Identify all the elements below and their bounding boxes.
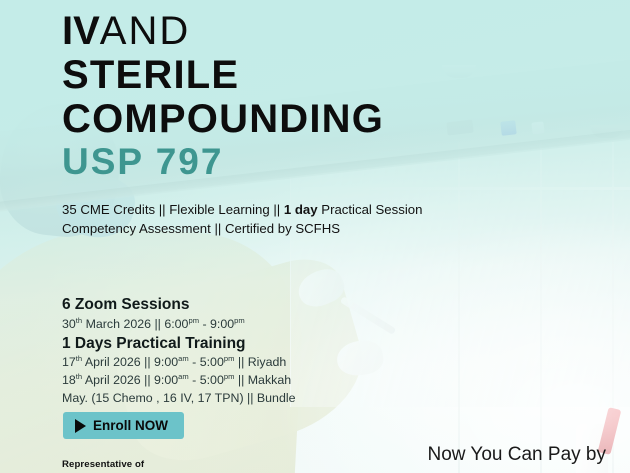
row2-start-meridiem: am [178, 372, 189, 381]
headline-iv: IV [62, 9, 100, 53]
row1-end-meridiem: pm [224, 354, 235, 363]
headline-line-3: COMPOUNDING [62, 99, 384, 139]
headline-and: AND [100, 9, 190, 53]
tagline-credits: 35 CME Credits || Flexible Learning || [62, 202, 284, 217]
promo-poster: IVAND STERILE COMPOUNDING USP 797 35 CME… [0, 0, 630, 473]
play-triangle-icon [75, 419, 86, 433]
practical-row-makkah: 18th April 2026 || 9:00am - 5:00pm || Ma… [62, 372, 295, 390]
headline-block: IVAND STERILE COMPOUNDING USP 797 [62, 11, 384, 180]
zoom-time-end-meridiem: pm [234, 316, 245, 325]
practical-training-heading: 1 Days Practical Training [62, 334, 295, 355]
enroll-now-button[interactable]: Enroll NOW [63, 412, 184, 439]
zoom-date-rest: March 2026 || 6:00 [82, 317, 188, 331]
zoom-time-sep: - 9:00 [199, 317, 234, 331]
tagline-one-day: 1 day [284, 202, 318, 217]
practical-row-riyadh: 17th April 2026 || 9:00am - 5:00pm || Ri… [62, 354, 295, 372]
row2-day: 18 [62, 373, 76, 387]
payment-note: Now You Can Pay by [427, 444, 606, 466]
row1-city: || Riyadh [234, 355, 286, 369]
row1-date: April 2026 || 9:00 [82, 355, 178, 369]
tagline-block: 35 CME Credits || Flexible Learning || 1… [62, 201, 422, 238]
row2-date: April 2026 || 9:00 [82, 373, 178, 387]
tagline-practical: Practical Session [318, 202, 423, 217]
zoom-time-start-meridiem: pm [188, 316, 199, 325]
representative-of-label: Representative of [62, 459, 144, 470]
zoom-sessions-heading: 6 Zoom Sessions [62, 295, 295, 316]
row2-end-meridiem: pm [224, 372, 235, 381]
tagline-line-1: 35 CME Credits || Flexible Learning || 1… [62, 201, 422, 220]
row1-time-sep: - 5:00 [189, 355, 224, 369]
row2-city: || Makkah [234, 373, 291, 387]
practical-row-bundle: May. (15 Chemo , 16 IV, 17 TPN) || Bundl… [62, 390, 295, 408]
enroll-now-label: Enroll NOW [93, 418, 168, 433]
poster-content: IVAND STERILE COMPOUNDING USP 797 35 CME… [0, 0, 630, 473]
row1-start-meridiem: am [178, 354, 189, 363]
headline-line-2: STERILE [62, 55, 384, 95]
headline-usp-797: USP 797 [62, 143, 384, 180]
headline-line-1: IVAND [62, 11, 384, 51]
row2-time-sep: - 5:00 [189, 373, 224, 387]
schedule-block: 6 Zoom Sessions 30th March 2026 || 6:00p… [62, 295, 295, 407]
zoom-session-date: 30th March 2026 || 6:00pm - 9:00pm [62, 316, 295, 334]
row1-day: 17 [62, 355, 76, 369]
zoom-date-day: 30 [62, 317, 76, 331]
tagline-line-2: Competency Assessment || Certified by SC… [62, 220, 422, 239]
